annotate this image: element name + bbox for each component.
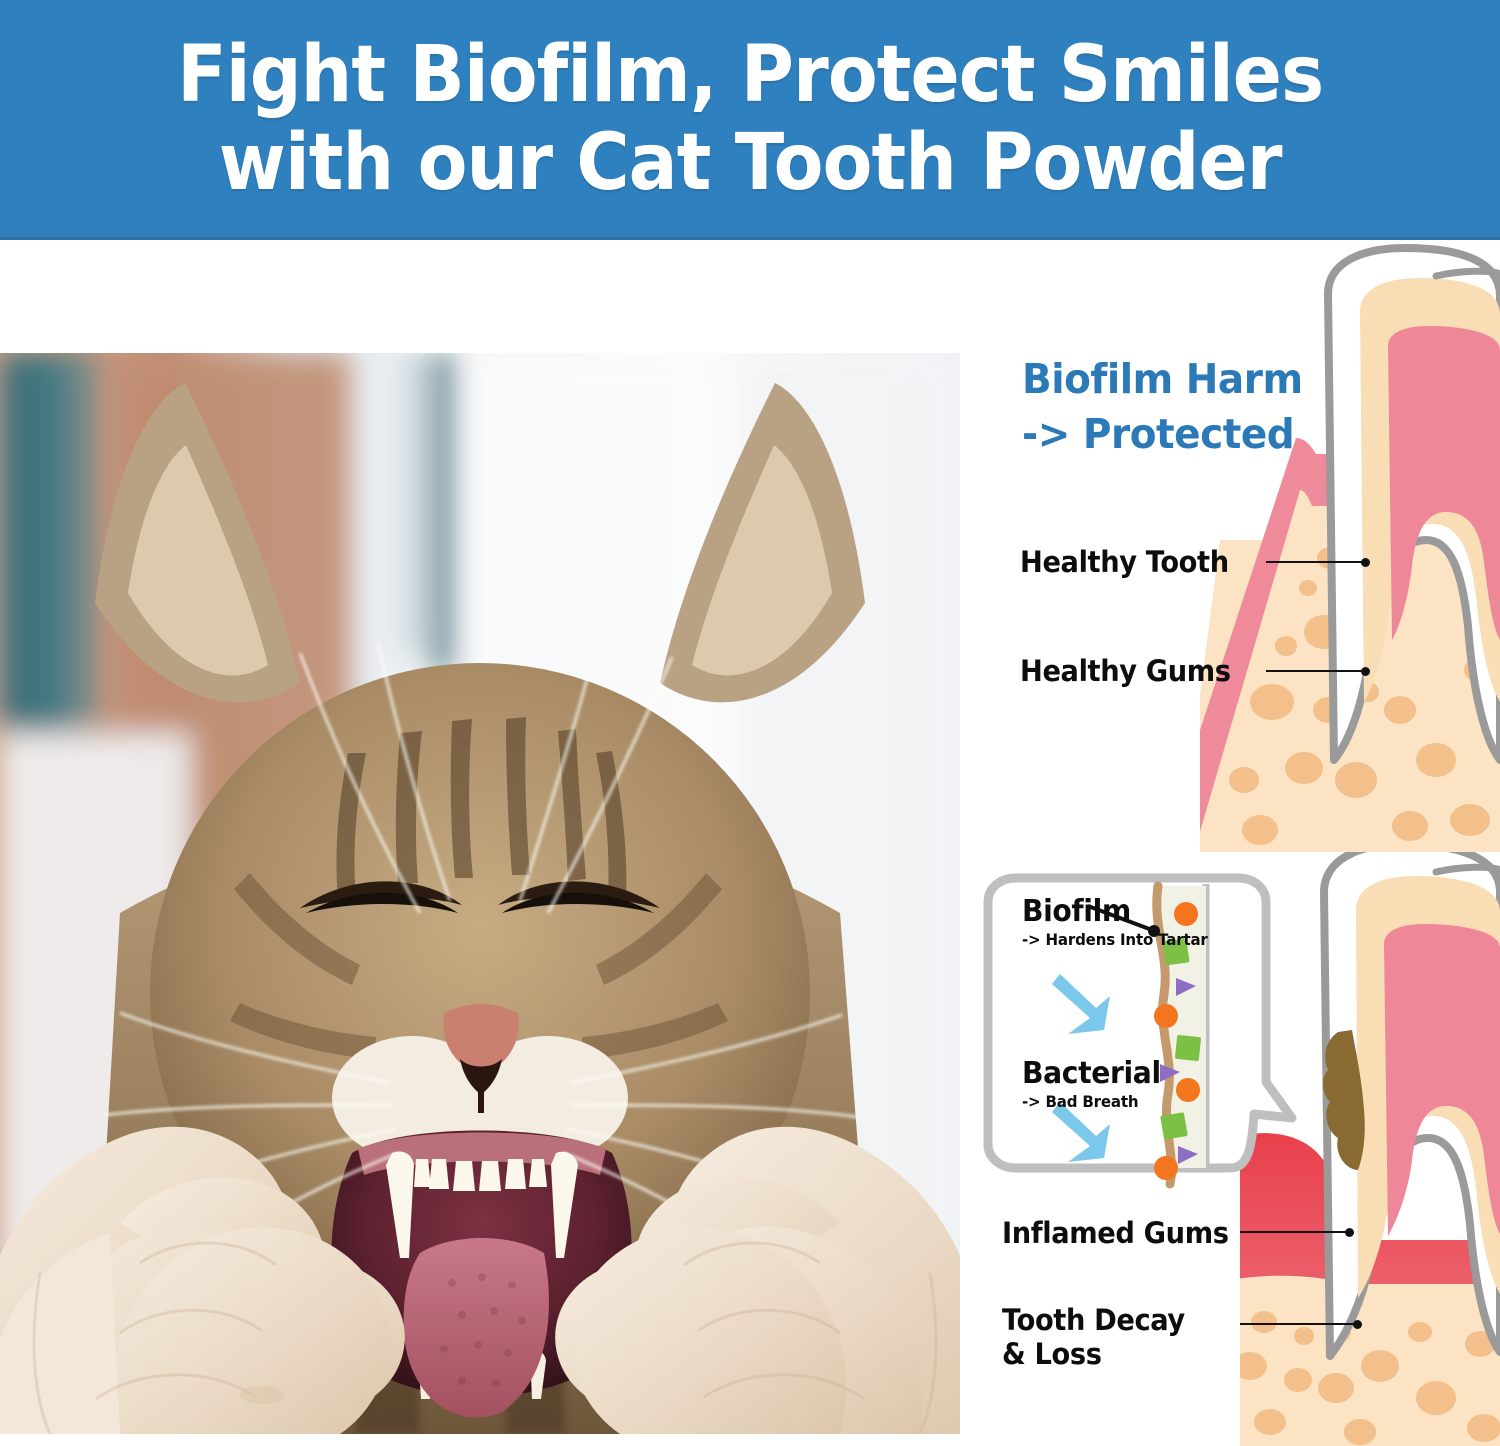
healthy-tooth-illustration [1200, 240, 1500, 852]
infographic-page: Fight Biofilm, Protect Smiles with our C… [0, 0, 1500, 1446]
callout-biofilm-subtitle: -> Hardens Into Tartar [1022, 930, 1208, 949]
leader-dot [1353, 1320, 1362, 1329]
cat-photo-illustration [0, 353, 960, 1434]
leader-line-inflamed-gums [1240, 1231, 1350, 1233]
callout-bacterial-subtitle: -> Bad Breath [1022, 1092, 1138, 1111]
cat-dental-exam-photo [0, 353, 960, 1434]
callout-bacterial-title: Bacterial [1022, 1056, 1161, 1091]
leader-dot [1345, 1228, 1354, 1237]
label-inflamed-gums: Inflamed Gums [1002, 1216, 1229, 1250]
label-tooth-decay-line-2: & Loss [1002, 1337, 1228, 1371]
callout-bubble-shape [970, 868, 1300, 1198]
heading-line-1: Biofilm Harm [1022, 352, 1336, 407]
label-healthy-tooth: Healthy Tooth [1020, 545, 1229, 579]
title-line-1: Fight Biofilm, Protect Smiles [177, 30, 1323, 120]
callout-biofilm-title: Biofilm [1022, 894, 1131, 929]
leader-dot [1361, 558, 1370, 567]
leader-line-healthy-tooth [1266, 561, 1366, 563]
header-banner: Fight Biofilm, Protect Smiles with our C… [0, 0, 1500, 240]
label-tooth-decay: Tooth Decay & Loss [1002, 1303, 1228, 1371]
leader-line-tooth-decay [1240, 1323, 1358, 1325]
panel-heading: Biofilm Harm -> Protected [1022, 352, 1336, 461]
dental-diagram-panel: Biofilm Harm -> Protected Healthy Tooth … [960, 240, 1500, 1446]
leader-dot [1361, 667, 1370, 676]
title-line-2: with our Cat Tooth Powder [177, 124, 1323, 202]
biofilm-callout: Biofilm -> Hardens Into Tartar Bacterial… [970, 868, 1300, 1198]
heading-line-2: -> Protected [1022, 407, 1336, 462]
label-healthy-gums: Healthy Gums [1020, 654, 1231, 688]
label-tooth-decay-line-1: Tooth Decay [1002, 1303, 1228, 1337]
page-title: Fight Biofilm, Protect Smiles with our C… [177, 36, 1323, 202]
leader-line-healthy-gums [1266, 670, 1366, 672]
